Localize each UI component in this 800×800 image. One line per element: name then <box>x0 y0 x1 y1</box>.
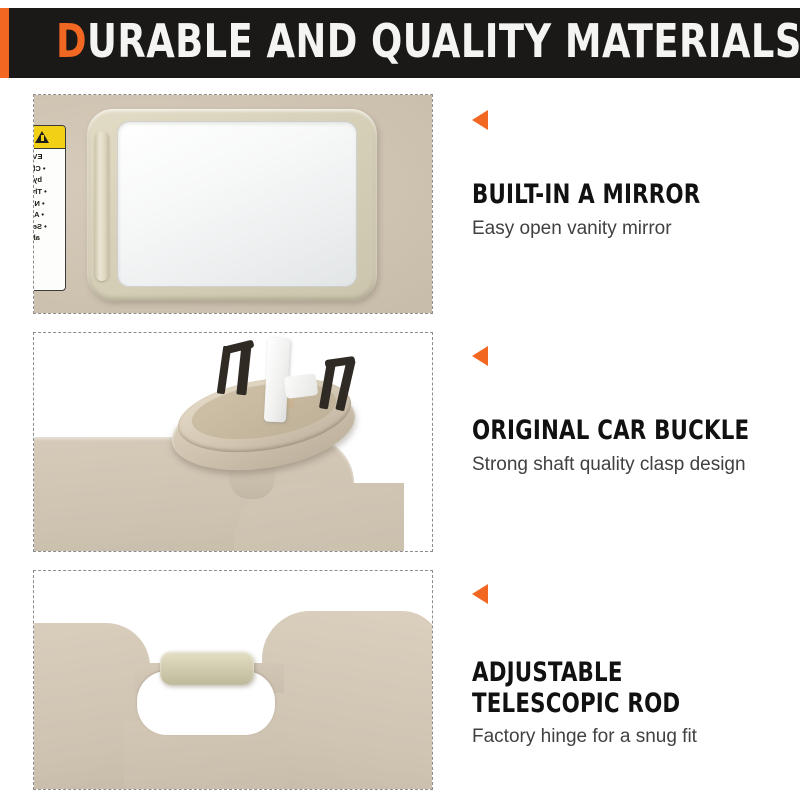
feature-heading-wrap: ADJUSTABLE TELESCOPIC ROD <box>472 656 784 715</box>
mirror-slide-rod <box>95 131 109 281</box>
feature-text-telescopic-rod: ADJUSTABLE TELESCOPIC ROD Factory hinge … <box>472 570 784 749</box>
telescopic-rod <box>160 651 254 685</box>
feature-photo-buckle <box>33 332 433 552</box>
header-accent-bar <box>0 8 9 78</box>
buckle-white-latch-tab <box>284 373 318 399</box>
left-triangle-icon <box>472 110 488 130</box>
feature-row: ORIGINAL CAR BUCKLE Strong shaft quality… <box>0 332 800 554</box>
feature-heading-wrap: BUILT-IN A MIRROR <box>472 178 784 207</box>
page-title-first-letter: D <box>56 15 87 69</box>
feature-heading-text: BUILT-IN A MIRROR <box>472 178 700 210</box>
photo-inner <box>34 333 432 551</box>
warning-line: EVER <box>34 151 62 163</box>
feature-row: EVER • Child by thi • The b • Neve • Alw… <box>0 94 800 316</box>
left-triangle-icon <box>472 346 488 366</box>
page-header-banner: DURABLE AND QUALITY MATERIALS <box>0 8 800 78</box>
photo-inner <box>34 571 432 789</box>
warning-label-text: EVER • Child by thi • The b • Neve • Alw… <box>34 149 65 246</box>
photo-inner: EVER • Child by thi • The b • Neve • Alw… <box>34 95 432 313</box>
warning-label-header <box>34 126 65 149</box>
feature-heading-wrap: ORIGINAL CAR BUCKLE <box>472 414 784 443</box>
warning-line: • Child <box>34 163 62 175</box>
feature-subtitle: Factory hinge for a snug fit <box>472 724 772 750</box>
warning-line: • Neve <box>34 198 62 210</box>
warning-line: • See o <box>34 221 62 233</box>
feature-photo-mirror: EVER • Child by thi • The b • Neve • Alw… <box>33 94 433 314</box>
feature-heading: BUILT-IN A MIRROR <box>472 178 784 207</box>
warning-line: abou <box>34 232 62 244</box>
feature-heading-text: ORIGINAL CAR BUCKLE <box>472 414 749 446</box>
feature-text-buckle: ORIGINAL CAR BUCKLE Strong shaft quality… <box>472 332 784 478</box>
warning-line: by thi <box>34 174 62 186</box>
visor-surface-right <box>262 611 432 789</box>
features-container: EVER • Child by thi • The b • Neve • Alw… <box>0 78 800 800</box>
feature-text-mirror: BUILT-IN A MIRROR Easy open vanity mirro… <box>472 94 784 242</box>
feature-row: ADJUSTABLE TELESCOPIC ROD Factory hinge … <box>0 570 800 792</box>
warning-line: • The b <box>34 186 62 198</box>
mirror-glass <box>117 121 357 287</box>
feature-heading: ORIGINAL CAR BUCKLE <box>472 414 784 443</box>
feature-heading: ADJUSTABLE TELESCOPIC ROD <box>472 656 784 715</box>
mirror-frame <box>87 109 377 301</box>
feature-subtitle: Strong shaft quality clasp design <box>472 452 772 478</box>
feature-subtitle: Easy open vanity mirror <box>472 216 772 242</box>
warning-line: • Alwa <box>34 209 62 221</box>
feature-photo-telescopic-rod <box>33 570 433 790</box>
page-title: DURABLE AND QUALITY MATERIALS <box>56 20 800 64</box>
warning-label-sticker: EVER • Child by thi • The b • Neve • Alw… <box>34 125 66 291</box>
warning-triangle-icon <box>35 131 49 143</box>
left-triangle-icon <box>472 584 488 604</box>
page-title-rest: URABLE AND QUALITY MATERIALS <box>87 15 800 69</box>
feature-heading-text: ADJUSTABLE TELESCOPIC ROD <box>472 656 768 719</box>
